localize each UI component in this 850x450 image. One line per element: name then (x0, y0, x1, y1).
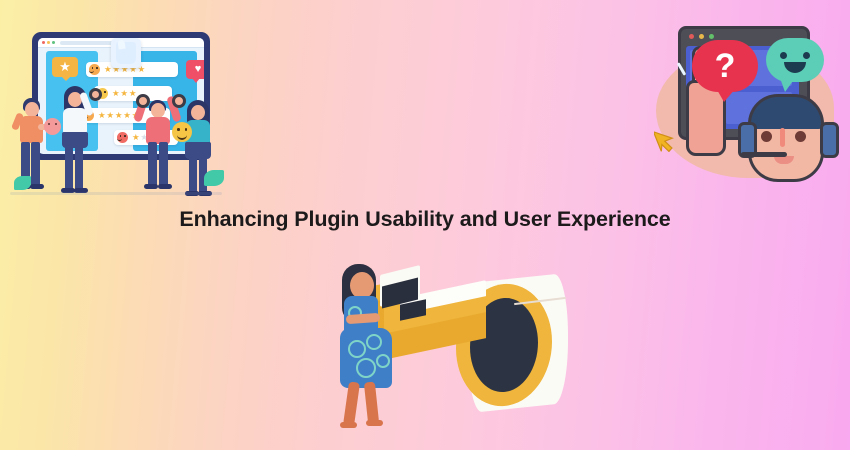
shoe-right (30, 184, 44, 189)
smiley-bubble-tail (780, 78, 795, 92)
thumbs-up-thumb (117, 40, 125, 50)
browser-dot-yellow-icon (699, 34, 704, 39)
head (25, 102, 39, 117)
heart-badge-icon (186, 60, 204, 79)
smiley-bubble (766, 38, 824, 82)
browser-dot-yellow-icon (47, 41, 50, 44)
leg-left (189, 157, 197, 193)
smiley-mouth (89, 69, 94, 73)
star-rating: ★★★ (112, 88, 137, 99)
user-feedback-illustration: ★★★★★ ★★★ ★★★★★ ★★★ (8, 20, 223, 195)
hand-left (136, 94, 150, 108)
smiley-mouth (177, 133, 187, 140)
woman-head (350, 272, 374, 299)
banner-canvas: ★★★★★ ★★★ ★★★★★ ★★★ (0, 0, 850, 450)
leg-right (159, 142, 168, 186)
agent-nose (780, 128, 785, 147)
leg-right (75, 146, 83, 190)
agent-eye-right (795, 131, 806, 142)
smiley-eye-left (780, 52, 787, 59)
agent-eye-left (761, 131, 772, 142)
person-white-top (56, 86, 98, 198)
shoe-left (144, 184, 158, 189)
smiley-eye-right (803, 52, 810, 59)
question-bubble-tail (716, 88, 736, 102)
shoe-right (158, 184, 172, 189)
dress-pattern-circle (366, 334, 382, 350)
smiley-mouth (784, 62, 806, 73)
browser-dot-red-icon (42, 41, 45, 44)
cursor-arrow-icon (654, 126, 676, 152)
leg-right (31, 142, 40, 186)
question-bubble (692, 40, 758, 92)
frowny-mouth (117, 137, 122, 141)
leaf-decoration-left (14, 176, 31, 190)
yellow-smiley-icon (172, 122, 192, 142)
woman-foot-right (366, 420, 383, 426)
woman-with-key-illustration (318, 262, 580, 440)
star-badge-tail (61, 76, 71, 81)
dress-pattern-circle (376, 354, 390, 368)
browser-dot-green-icon (709, 34, 714, 39)
torso (146, 117, 170, 144)
star-badge-icon (52, 57, 78, 77)
headset-microphone-icon (741, 152, 787, 157)
head (191, 105, 205, 120)
hand (89, 88, 102, 101)
dress-pattern-circle (356, 358, 376, 378)
woman-leg-left (343, 381, 360, 426)
leg-left (148, 142, 157, 186)
heart-badge-tail (192, 78, 200, 83)
browser-dot-green-icon (52, 41, 55, 44)
headset-earcup-right-icon (820, 122, 839, 158)
leg-left (65, 146, 73, 190)
ground-shadow (10, 192, 222, 195)
woman-foot-left (340, 422, 357, 428)
page-title: Enhancing Plugin Usability and User Expe… (0, 207, 850, 232)
person-pink-shirt (136, 94, 180, 198)
head (151, 103, 165, 118)
dress-pattern-circle (348, 340, 366, 358)
leaf-decoration-right (204, 170, 224, 186)
browser-dot-red-icon (689, 34, 694, 39)
customer-support-illustration (648, 18, 848, 193)
torso (63, 108, 87, 134)
